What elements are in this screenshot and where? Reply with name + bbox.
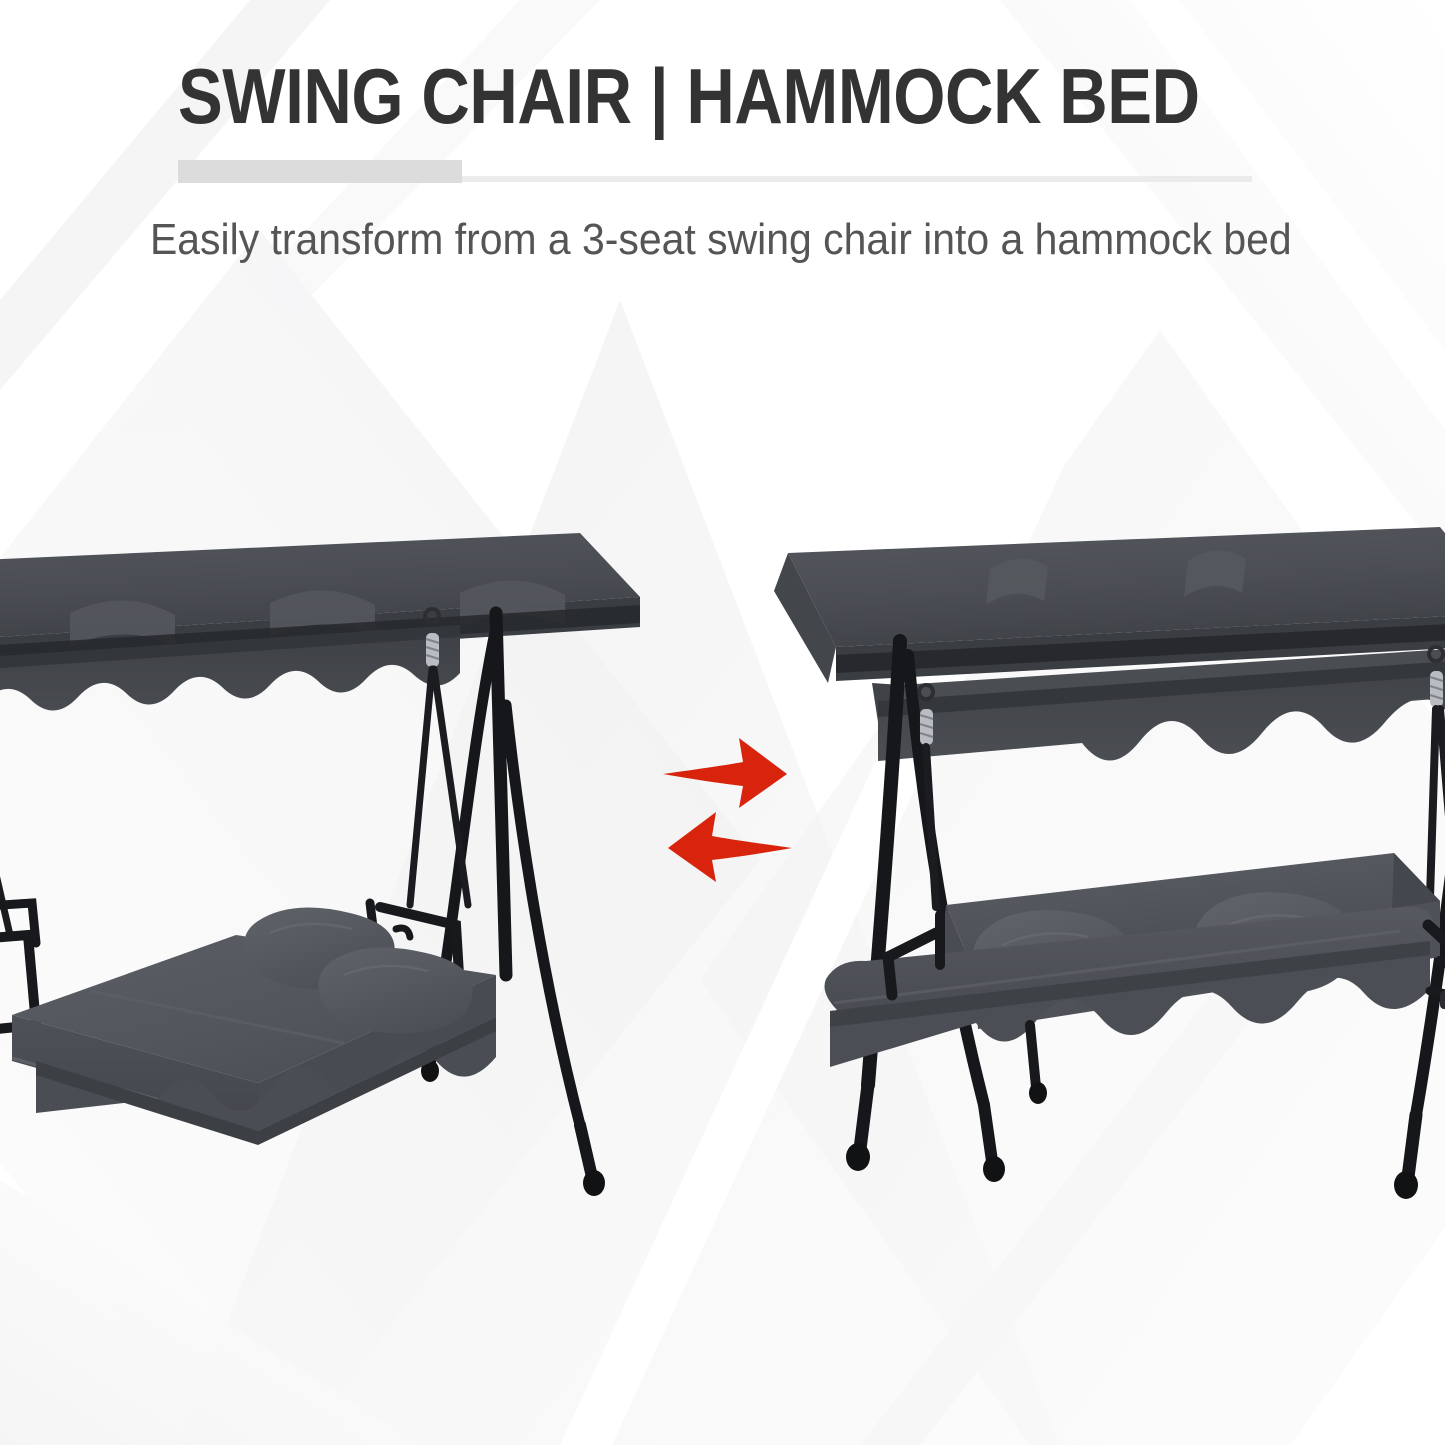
header: SWING CHAIR | HAMMOCK BED Easily transfo…: [0, 0, 1445, 300]
product-image-hammock-bed: [0, 505, 660, 1265]
recline-bracket-right: [1440, 991, 1445, 1009]
transform-arrows: [655, 712, 800, 882]
foot-cap-right-front: [1394, 1171, 1418, 1199]
product-image-swing-chair: [740, 505, 1445, 1265]
seat-center-support: [1030, 1025, 1036, 1087]
arrow-right-icon: [663, 738, 787, 808]
foot-cap-right: [583, 1170, 605, 1196]
frame-left: [430, 613, 592, 1177]
page-title: SWING CHAIR | HAMMOCK BED: [178, 54, 1141, 138]
page-subtitle: Easily transform from a 3-seat swing cha…: [150, 212, 1266, 268]
suspension-ropes-left: [0, 669, 468, 935]
infographic-canvas: SWING CHAIR | HAMMOCK BED Easily transfo…: [0, 0, 1445, 1445]
foot-cap-left-front: [846, 1143, 870, 1171]
title-divider: [0, 158, 1445, 188]
foot-cap-center: [1029, 1082, 1047, 1104]
arrow-left-icon: [668, 812, 792, 882]
armrest-hook-right: [396, 928, 410, 937]
foot-cap-left-back: [983, 1156, 1005, 1182]
divider-thick-bar: [178, 160, 462, 183]
